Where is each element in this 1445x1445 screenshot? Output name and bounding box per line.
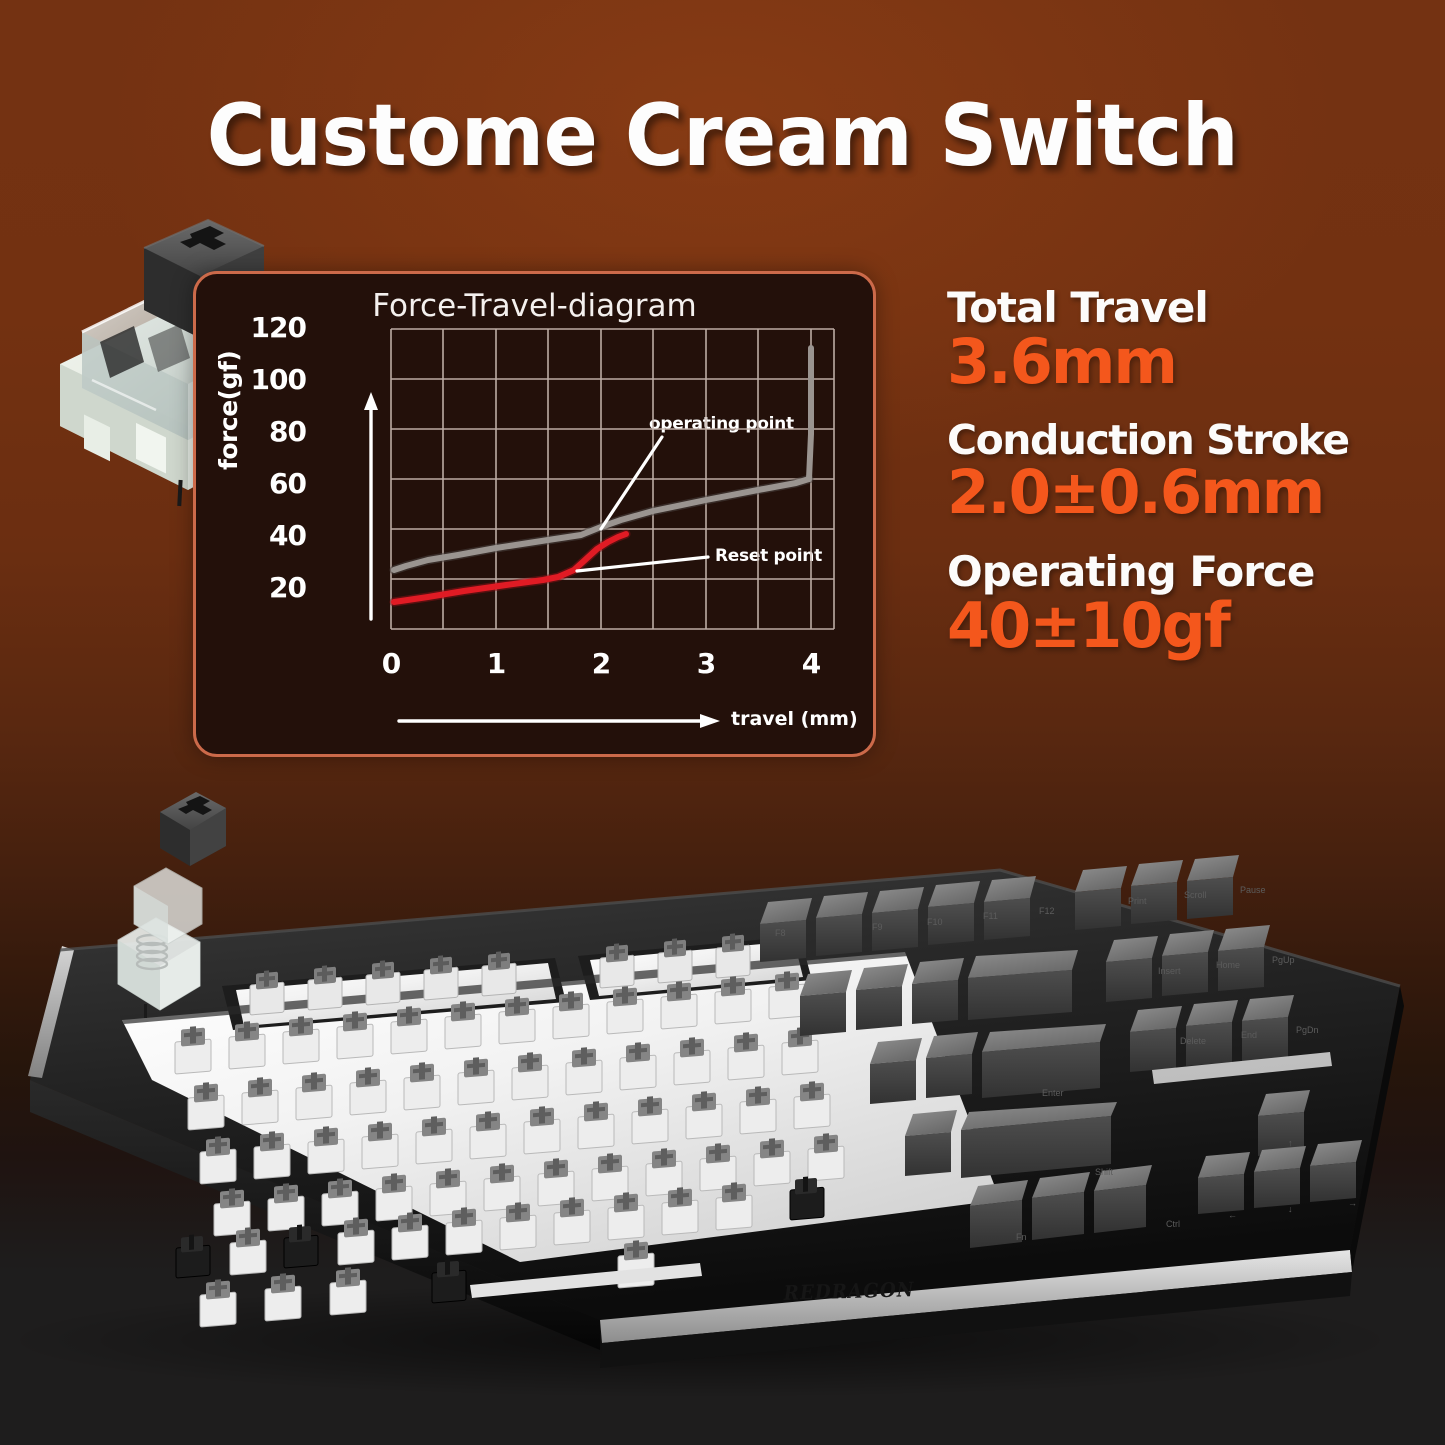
chart-plot-area [196, 274, 879, 760]
keycap-legend-down: ↓ [1288, 1204, 1293, 1214]
product-marketing-page: Custome Cream Switch [0, 0, 1445, 1445]
keycap-legend-end: End [1241, 1030, 1257, 1040]
keycap-legend-pgdn: PgDn [1296, 1025, 1319, 1035]
keycap-legend-pause: Pause [1240, 885, 1266, 895]
keycap-legend-up: ↑ [1288, 1138, 1293, 1148]
keycap-legend-fn: Fn [1016, 1232, 1027, 1242]
keycap-legend-f9: F9 [872, 922, 883, 932]
keycap-legend-f8: F8 [775, 928, 786, 938]
spec-value-total-travel: 3.6mm [947, 330, 1397, 394]
keycap-legend-home: Home [1216, 960, 1240, 970]
keycap-legend-f11: F11 [983, 911, 998, 921]
keycap-legend-enter: Enter [1042, 1088, 1064, 1098]
keycap-legend-f12: F12 [1039, 906, 1055, 916]
keycap-legend-scroll: Scroll [1184, 890, 1207, 900]
keyboard-image [0, 780, 1445, 1400]
keycap-legend-f10: F10 [927, 917, 943, 927]
keycap-legend-pgup: PgUp [1272, 955, 1295, 965]
spec-operating-force: Operating Force 40±10gf [947, 547, 1397, 658]
keycap-legend-insert: Insert [1158, 966, 1181, 976]
keycap-legend-shift: Shift [1095, 1167, 1113, 1177]
spec-total-travel: Total Travel 3.6mm [947, 283, 1397, 394]
page-title: Custome Cream Switch [51, 86, 1395, 186]
keycap-legend-print: Print [1128, 896, 1147, 906]
keycap-legend-delete: Delete [1180, 1036, 1206, 1046]
spec-value-conduction-stroke: 2.0±0.6mm [947, 462, 1397, 525]
spec-value-operating-force: 40±10gf [947, 594, 1397, 658]
keycap-legend-ctrl: Ctrl [1166, 1219, 1180, 1229]
spec-list: Total Travel 3.6mm Conduction Stroke 2.0… [947, 283, 1397, 658]
brand-logo: REDRAGON [783, 1277, 914, 1305]
keycap-legend-left: ← [1228, 1210, 1237, 1220]
spec-conduction-stroke: Conduction Stroke 2.0±0.6mm [947, 416, 1397, 525]
force-travel-chart-panel: Force-Travel-diagram force(gf) 120 100 8… [193, 271, 876, 757]
keycap-legend-right: → [1348, 1198, 1357, 1208]
